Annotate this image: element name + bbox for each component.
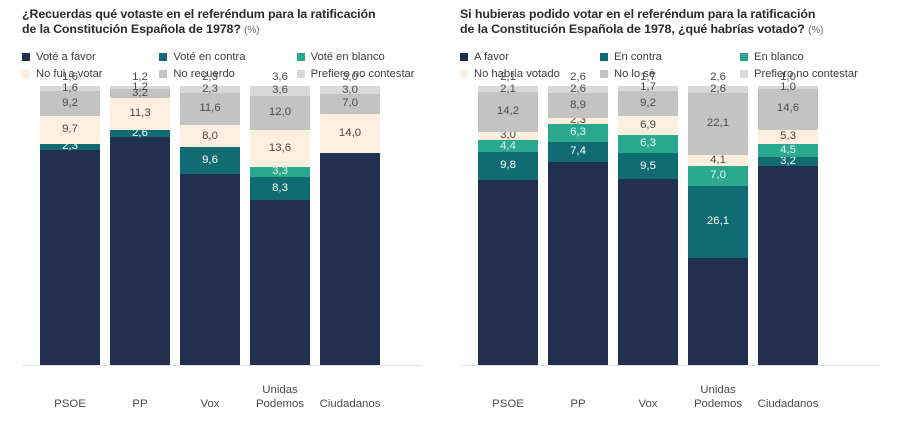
bar-segment-label: 1,2 [132, 82, 148, 93]
bar-top-label: 1,7 [618, 71, 678, 83]
bar-segment[interactable]: 3,0 [478, 132, 538, 140]
chart-panel-left: ¿Recuerdas qué votaste en el referéndum … [0, 0, 450, 437]
bar-segment[interactable]: 1,2 [110, 86, 170, 89]
bar-segment-label: 2,1 [500, 84, 516, 95]
bar-segment[interactable]: 6,3 [548, 124, 608, 142]
bar-segment-label: 9,7 [62, 124, 78, 135]
bar-segment-label: 3,0 [500, 130, 516, 141]
bar-segment-label: 8,3 [272, 183, 288, 194]
bar-segment-label: 8,9 [570, 100, 586, 111]
bar-segment[interactable]: 6,3 [618, 135, 678, 153]
bar-segment[interactable]: 76,0 [320, 153, 380, 365]
bar-segment[interactable]: 38,2 [688, 258, 748, 365]
bar-segment[interactable]: 8,0 [180, 125, 240, 147]
bar-segment[interactable]: 3,0 [320, 86, 380, 94]
bar-segment-label: 3,3 [272, 166, 288, 177]
stacked-bar[interactable]: 72,67,46,32,38,92,6 [548, 86, 608, 365]
bar-top-label: 1,2 [110, 71, 170, 83]
bar-segment-label: 4,1 [710, 155, 726, 166]
bar-segment[interactable]: 9,5 [618, 153, 678, 180]
bar-segment[interactable]: 14,2 [478, 92, 538, 132]
bars-left: 77,12,39,79,21,61,6PSOE81,72,611,33,21,2… [0, 0, 450, 437]
bar-segment-label: 4,5 [780, 145, 796, 156]
bar-segment[interactable]: 14,6 [758, 89, 818, 130]
stacked-bar[interactable]: 76,014,07,03,0 [320, 86, 380, 365]
bar-top-label: 2,6 [548, 71, 608, 83]
bar-segment[interactable]: 66,5 [618, 179, 678, 365]
bar-segment-label: 9,6 [202, 155, 218, 166]
bar-segment[interactable]: 8,9 [548, 93, 608, 118]
bar-segment[interactable]: 59,2 [250, 200, 310, 365]
bar-top-label: 3,0 [320, 71, 380, 83]
bar-segment[interactable]: 14,0 [320, 114, 380, 153]
stacked-bar[interactable]: 71,43,24,55,314,61,0 [758, 86, 818, 365]
bar-segment[interactable]: 5,3 [758, 130, 818, 145]
bar-segment[interactable]: 12,0 [250, 96, 310, 129]
bar-segment[interactable]: 22,1 [688, 93, 748, 155]
bar-segment-label: 6,3 [640, 138, 656, 149]
bar-segment[interactable]: 7,0 [688, 166, 748, 186]
bar-segment-label: 14,6 [777, 103, 799, 114]
bar-segment[interactable]: 81,7 [110, 137, 170, 365]
bar-top-label: 3,6 [250, 71, 310, 83]
infographic-page: ¿Recuerdas qué votaste en el referéndum … [0, 0, 900, 437]
bar-top-label: 2,6 [688, 71, 748, 83]
bar-segment[interactable]: 7,4 [548, 142, 608, 163]
bar-segment[interactable]: 1,6 [40, 86, 100, 90]
axis-line-left [22, 365, 422, 366]
bar-segment[interactable]: 72,6 [548, 162, 608, 365]
bar-segment-label: 4,4 [500, 141, 516, 152]
bar-segment[interactable]: 66,4 [478, 180, 538, 365]
bar-segment-label: 7,0 [710, 170, 726, 181]
bar-segment-label: 11,3 [129, 108, 150, 119]
bar-segment[interactable]: 11,3 [110, 98, 170, 130]
bar-segment[interactable]: 68,4 [180, 174, 240, 365]
bar-segment-label: 9,2 [640, 98, 656, 109]
bar-segment-label: 5,3 [780, 131, 796, 142]
bar-segment[interactable]: 2,3 [548, 118, 608, 124]
bar-segment[interactable]: 9,7 [40, 116, 100, 143]
bar-top-label: 2,1 [478, 71, 538, 83]
bar-segment[interactable]: 26,1 [688, 186, 748, 259]
chart-panel-right: Si hubieras podido votar en el referéndu… [450, 0, 900, 437]
bar-segment-label: 9,2 [62, 98, 78, 109]
bar-top-label: 1,6 [40, 71, 100, 83]
bar-segment-label: 13,6 [269, 143, 291, 154]
bar-segment-label: 2,6 [570, 84, 586, 95]
bar-segment-label: 6,9 [640, 120, 656, 131]
bar-segment-label: 1,6 [62, 83, 78, 94]
bar-segment-label: 6,3 [570, 127, 586, 138]
bar-segment[interactable]: 7,0 [320, 94, 380, 114]
bar-top-label: 1,0 [758, 71, 818, 83]
bar-segment[interactable]: 11,6 [180, 93, 240, 125]
bar-segment[interactable]: 2,1 [478, 86, 538, 92]
x-axis-label: Ciudadanos [305, 397, 395, 411]
bar-segment-label: 9,5 [640, 161, 656, 172]
bar-segment[interactable]: 77,1 [40, 150, 100, 365]
bar-segment[interactable]: 9,2 [618, 91, 678, 117]
bar-segment[interactable]: 1,0 [758, 86, 818, 89]
bar-segment-label: 3,0 [342, 85, 358, 96]
bar-segment[interactable]: 9,2 [40, 91, 100, 117]
bar-segment[interactable]: 71,4 [758, 166, 818, 365]
bar-segment-label: 2,6 [710, 84, 726, 95]
bar-segment-label: 12,0 [269, 107, 291, 118]
bar-segment[interactable]: 3,3 [250, 167, 310, 176]
stacked-bar[interactable]: 38,226,17,04,122,12,6 [688, 86, 748, 365]
axis-line-right [460, 365, 880, 366]
bar-segment[interactable]: 4,4 [478, 140, 538, 152]
x-axis-label: Ciudadanos [743, 397, 833, 411]
bar-segment-label: 7,4 [570, 146, 586, 157]
bar-segment-label: 22,1 [707, 118, 729, 129]
bars-right: 66,49,84,43,014,22,12,1PSOE72,67,46,32,3… [450, 0, 900, 437]
stacked-bar[interactable]: 66,49,84,43,014,22,1 [478, 86, 538, 365]
bar-segment[interactable]: 1,7 [618, 86, 678, 91]
bar-segment-label: 11,6 [199, 103, 220, 114]
bar-segment[interactable]: 4,1 [688, 155, 748, 166]
bar-segment[interactable]: 2,3 [180, 86, 240, 92]
stacked-bar[interactable]: 81,72,611,33,21,2 [110, 86, 170, 365]
bar-segment-label: 9,8 [500, 160, 516, 171]
bar-segment[interactable]: 2,6 [688, 86, 748, 93]
stacked-bar[interactable]: 59,28,33,313,612,03,6 [250, 86, 310, 365]
stacked-bar[interactable]: 77,12,39,79,21,6 [40, 86, 100, 365]
stacked-bar[interactable]: 66,59,56,36,99,21,7 [618, 86, 678, 365]
bar-segment[interactable]: 2,3 [40, 144, 100, 150]
bar-segment[interactable]: 4,5 [758, 144, 818, 157]
bar-segment-label: 2,3 [202, 84, 218, 95]
bar-segment-label: 8,0 [202, 131, 218, 142]
bar-segment[interactable]: 9,8 [478, 152, 538, 179]
bar-segment[interactable]: 3,2 [758, 157, 818, 166]
bar-segment-label: 14,0 [339, 128, 361, 139]
bar-segment-label: 14,2 [497, 106, 519, 117]
bar-segment[interactable]: 6,9 [618, 116, 678, 135]
bar-segment-label: 3,6 [272, 85, 288, 96]
bar-segment-label: 3,2 [780, 156, 796, 167]
bar-segment-label: 7,0 [342, 98, 358, 109]
bar-top-label: 2,3 [180, 71, 240, 83]
stacked-bar[interactable]: 68,49,68,011,62,3 [180, 86, 240, 365]
bar-segment[interactable]: 8,3 [250, 177, 310, 200]
bar-segment-label: 26,1 [707, 216, 729, 227]
bar-segment[interactable]: 13,6 [250, 130, 310, 168]
bar-segment-label: 1,7 [640, 82, 656, 93]
bar-segment[interactable]: 2,6 [110, 130, 170, 137]
bar-segment[interactable]: 2,6 [548, 86, 608, 93]
bar-segment-label: 1,0 [780, 82, 796, 93]
bar-segment[interactable]: 3,6 [250, 86, 310, 96]
bar-segment[interactable]: 9,6 [180, 147, 240, 174]
